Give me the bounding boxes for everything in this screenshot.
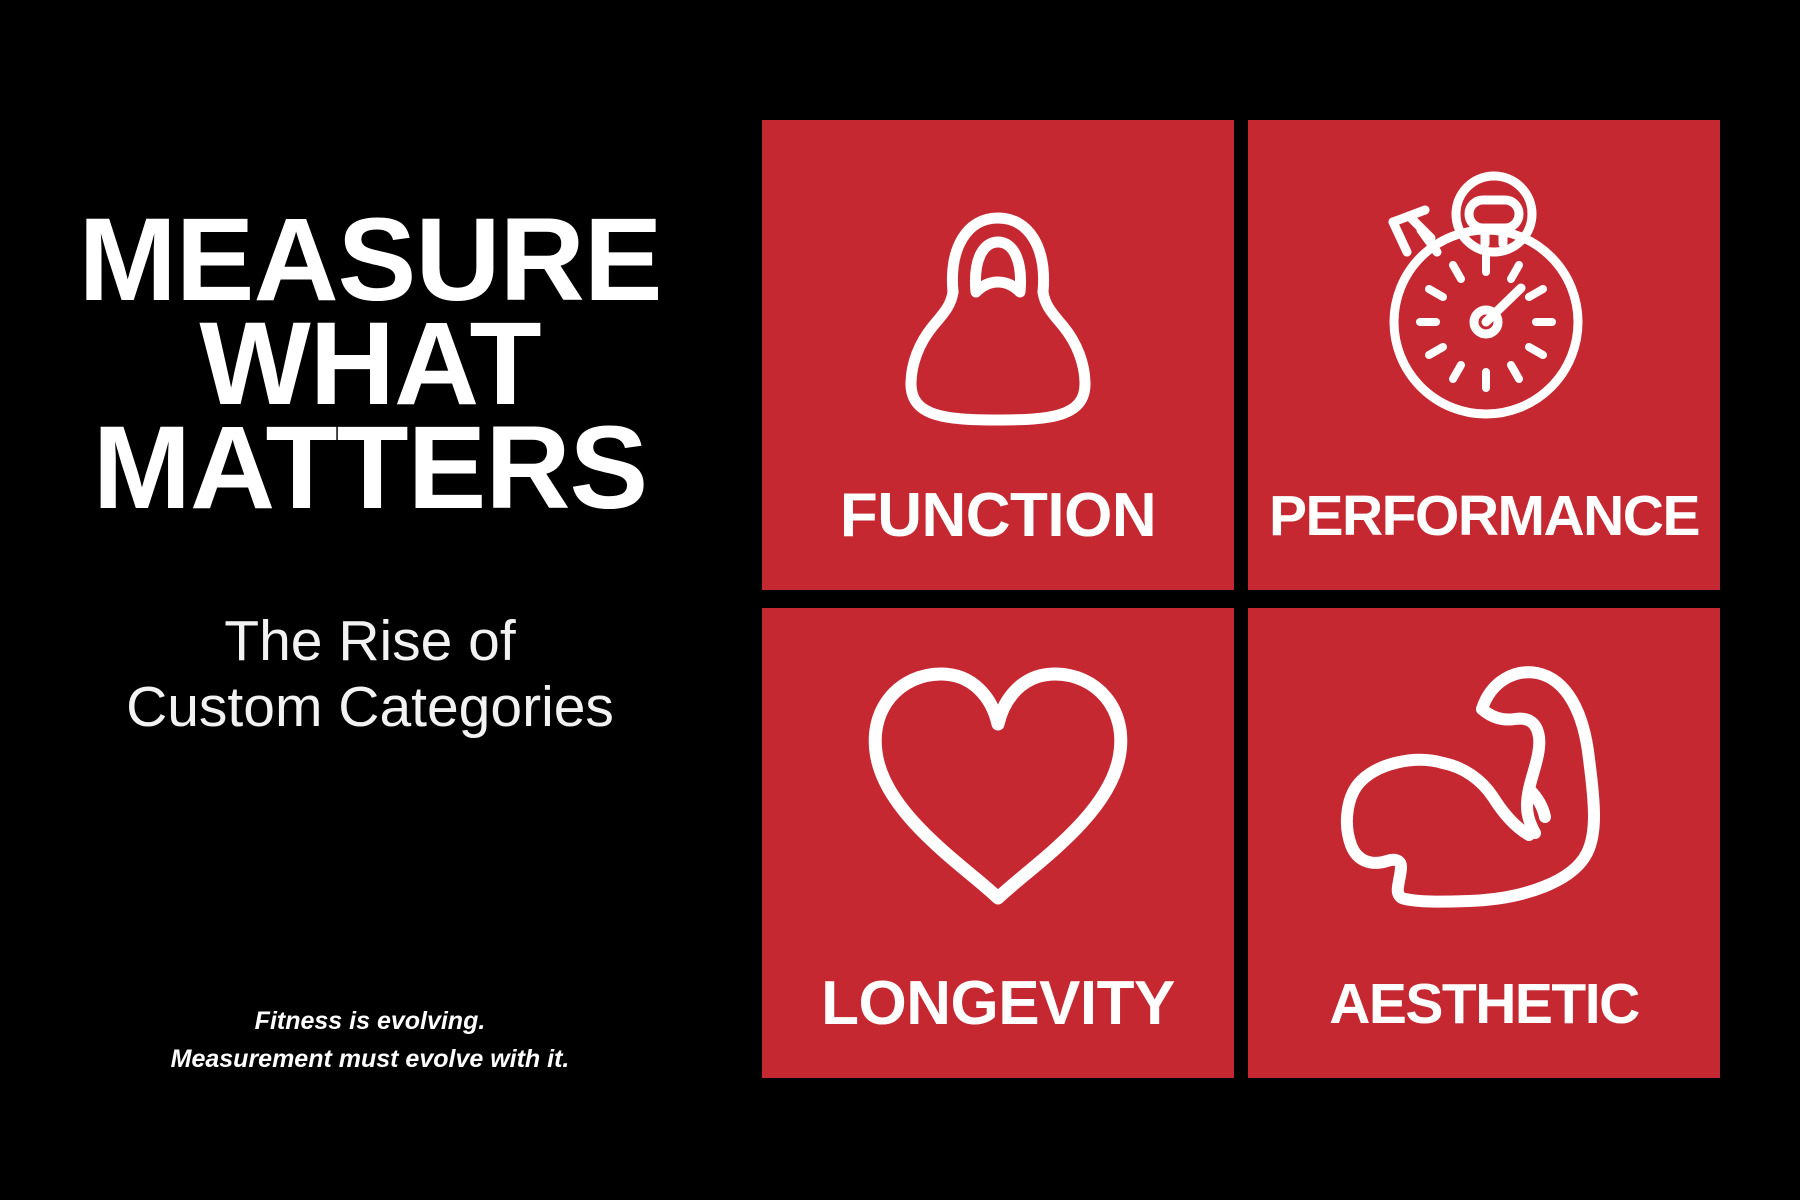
kettlebell-icon: [762, 154, 1234, 444]
headline-line-1: MEASURE: [0, 208, 740, 312]
stopwatch-icon: [1248, 154, 1720, 444]
slide-canvas: MEASURE WHAT MATTERS The Rise of Custom …: [0, 0, 1800, 1200]
page-title: MEASURE WHAT MATTERS: [0, 208, 740, 520]
subtitle-line-1: The Rise of: [0, 608, 740, 674]
subtitle-line-2: Custom Categories: [0, 674, 740, 740]
tile-performance[interactable]: PERFORMANCE: [1248, 120, 1720, 590]
headline-line-3: MATTERS: [0, 416, 740, 520]
tile-longevity[interactable]: LONGEVITY: [762, 608, 1234, 1078]
tile-label-performance: PERFORMANCE: [1248, 484, 1720, 548]
category-tile-grid: FUNCTION: [762, 120, 1720, 1078]
tile-function[interactable]: FUNCTION: [762, 120, 1234, 590]
page-subtitle: The Rise of Custom Categories: [0, 608, 740, 740]
tile-label-longevity: LONGEVITY: [762, 972, 1234, 1036]
tile-aesthetic[interactable]: AESTHETIC: [1248, 608, 1720, 1078]
tile-label-function: FUNCTION: [762, 484, 1234, 548]
headline-line-2: WHAT: [0, 312, 740, 416]
flexed-bicep-icon: [1248, 642, 1720, 932]
caption-line-2: Measurement must evolve with it.: [0, 1040, 740, 1078]
left-text-panel: MEASURE WHAT MATTERS The Rise of Custom …: [0, 0, 740, 1200]
tile-label-aesthetic: AESTHETIC: [1248, 972, 1720, 1036]
heart-icon: [762, 642, 1234, 932]
caption-line-1: Fitness is evolving.: [0, 1002, 740, 1040]
footer-caption: Fitness is evolving. Measurement must ev…: [0, 1002, 740, 1078]
